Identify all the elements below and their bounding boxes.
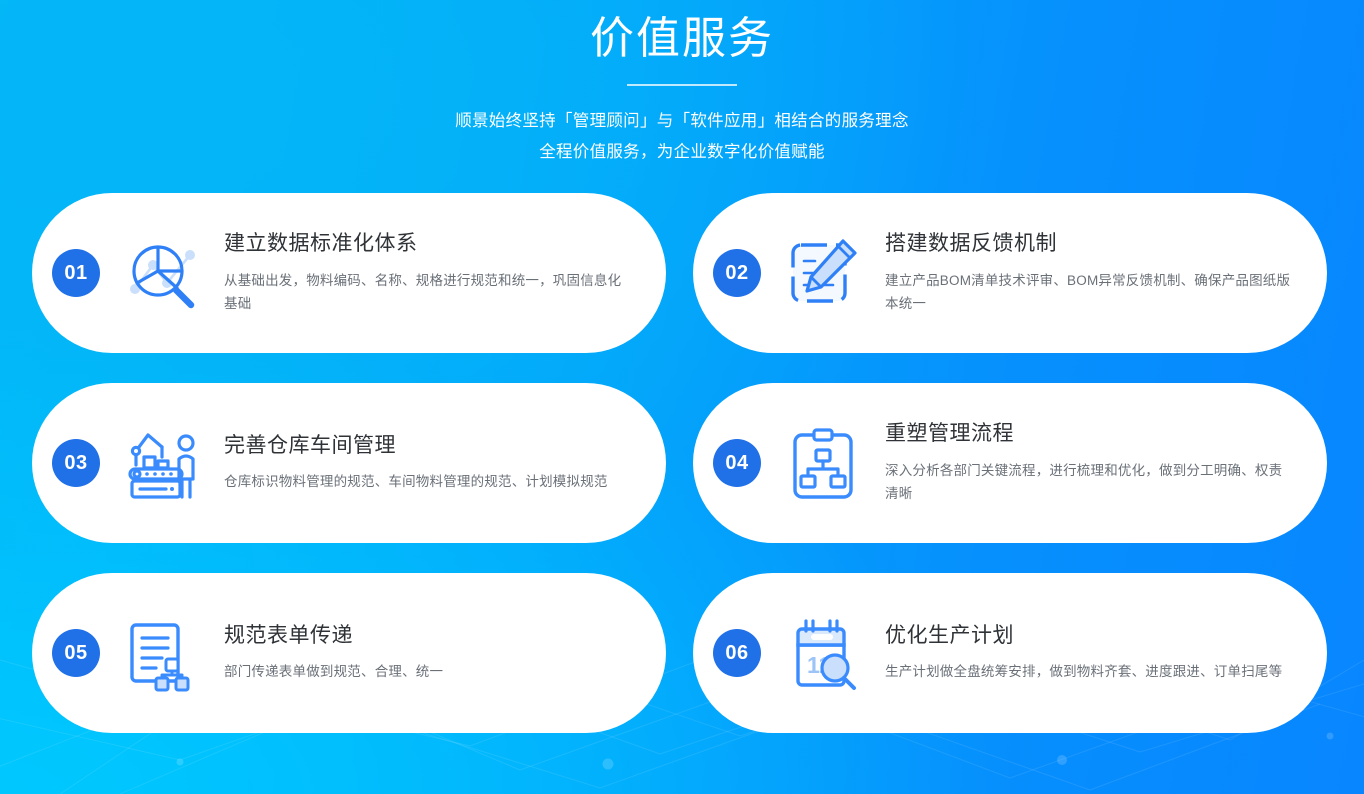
calendar-magnifier-icon: 11 [775, 605, 871, 701]
card-description: 仓库标识物料管理的规范、车间物料管理的规范、计划模拟规范 [224, 470, 632, 494]
card-number-badge: 01 [52, 249, 100, 297]
card-text-block: 搭建数据反馈机制 建立产品BOM清单技术评审、BOM异常反馈机制、确保产品图纸版… [885, 230, 1297, 316]
page-header: 价值服务 顺景始终坚持「管理顾问」与「软件应用」相结合的服务理念 全程价值服务，… [0, 0, 1364, 167]
card-description: 建立产品BOM清单技术评审、BOM异常反馈机制、确保产品图纸版本统一 [885, 269, 1293, 316]
card-number-badge: 02 [713, 249, 761, 297]
card-title: 完善仓库车间管理 [224, 432, 632, 459]
card-description: 从基础出发，物料编码、名称、规格进行规范和统一，巩固信息化基础 [224, 269, 632, 316]
document-pencil-icon [775, 225, 871, 321]
clipboard-orgchart-icon [775, 415, 871, 511]
service-card[interactable]: 04 重塑管理流程 深入分析各部门关键流程，进行梳理和优化，做到分工明确、权责清… [693, 383, 1327, 543]
card-number-badge: 04 [713, 439, 761, 487]
document-flow-icon [114, 605, 210, 701]
card-title: 规范表单传递 [224, 622, 632, 649]
factory-conveyor-worker-icon [114, 415, 210, 511]
card-text-block: 规范表单传递 部门传递表单做到规范、合理、统一 [224, 622, 636, 684]
card-number-badge: 05 [52, 629, 100, 677]
subtitle-line-1: 顺景始终坚持「管理顾问」与「软件应用」相结合的服务理念 [0, 106, 1364, 137]
service-card[interactable]: 02 搭建数据反馈机制 建立产品BOM清单技术评审、BOM异常反馈机制、确保产品… [693, 193, 1327, 353]
card-title: 建立数据标准化体系 [224, 230, 632, 257]
card-title: 优化生产计划 [885, 622, 1293, 649]
card-text-block: 重塑管理流程 深入分析各部门关键流程，进行梳理和优化，做到分工明确、权责清晰 [885, 420, 1297, 506]
service-card[interactable]: 05 规范表单传递 部门传递表单做到规范、合理、统一 [32, 573, 666, 733]
card-text-block: 建立数据标准化体系 从基础出发，物料编码、名称、规格进行规范和统一，巩固信息化基… [224, 230, 636, 316]
service-card[interactable]: 03 [32, 383, 666, 543]
card-number-badge: 06 [713, 629, 761, 677]
card-description: 部门传递表单做到规范、合理、统一 [224, 660, 632, 684]
service-card[interactable]: 01 建立数据标准化体系 从基础出发，物料编码、名称、规格进行规范和统一，巩固信… [32, 193, 666, 353]
card-number-badge: 03 [52, 439, 100, 487]
card-title: 重塑管理流程 [885, 420, 1293, 447]
card-description: 生产计划做全盘统筹安排，做到物料齐套、进度跟进、订单扫尾等 [885, 660, 1293, 684]
card-text-block: 完善仓库车间管理 仓库标识物料管理的规范、车间物料管理的规范、计划模拟规范 [224, 432, 636, 494]
service-card[interactable]: 06 11 优化生产计划 生产计划做全盘统筹安排，做到物料齐套、进度跟进、订单扫… [693, 573, 1327, 733]
subtitle-line-2: 全程价值服务，为企业数字化价值赋能 [0, 137, 1364, 168]
card-description: 深入分析各部门关键流程，进行梳理和优化，做到分工明确、权责清晰 [885, 459, 1293, 506]
page-subtitle: 顺景始终坚持「管理顾问」与「软件应用」相结合的服务理念 全程价值服务，为企业数字… [0, 106, 1364, 167]
page-title: 价值服务 [0, 10, 1364, 68]
pie-chart-magnifier-icon [114, 225, 210, 321]
service-card-grid: 01 建立数据标准化体系 从基础出发，物料编码、名称、规格进行规范和统一，巩固信… [32, 193, 1332, 733]
card-title: 搭建数据反馈机制 [885, 230, 1293, 257]
card-text-block: 优化生产计划 生产计划做全盘统筹安排，做到物料齐套、进度跟进、订单扫尾等 [885, 622, 1297, 684]
title-divider [627, 84, 737, 86]
